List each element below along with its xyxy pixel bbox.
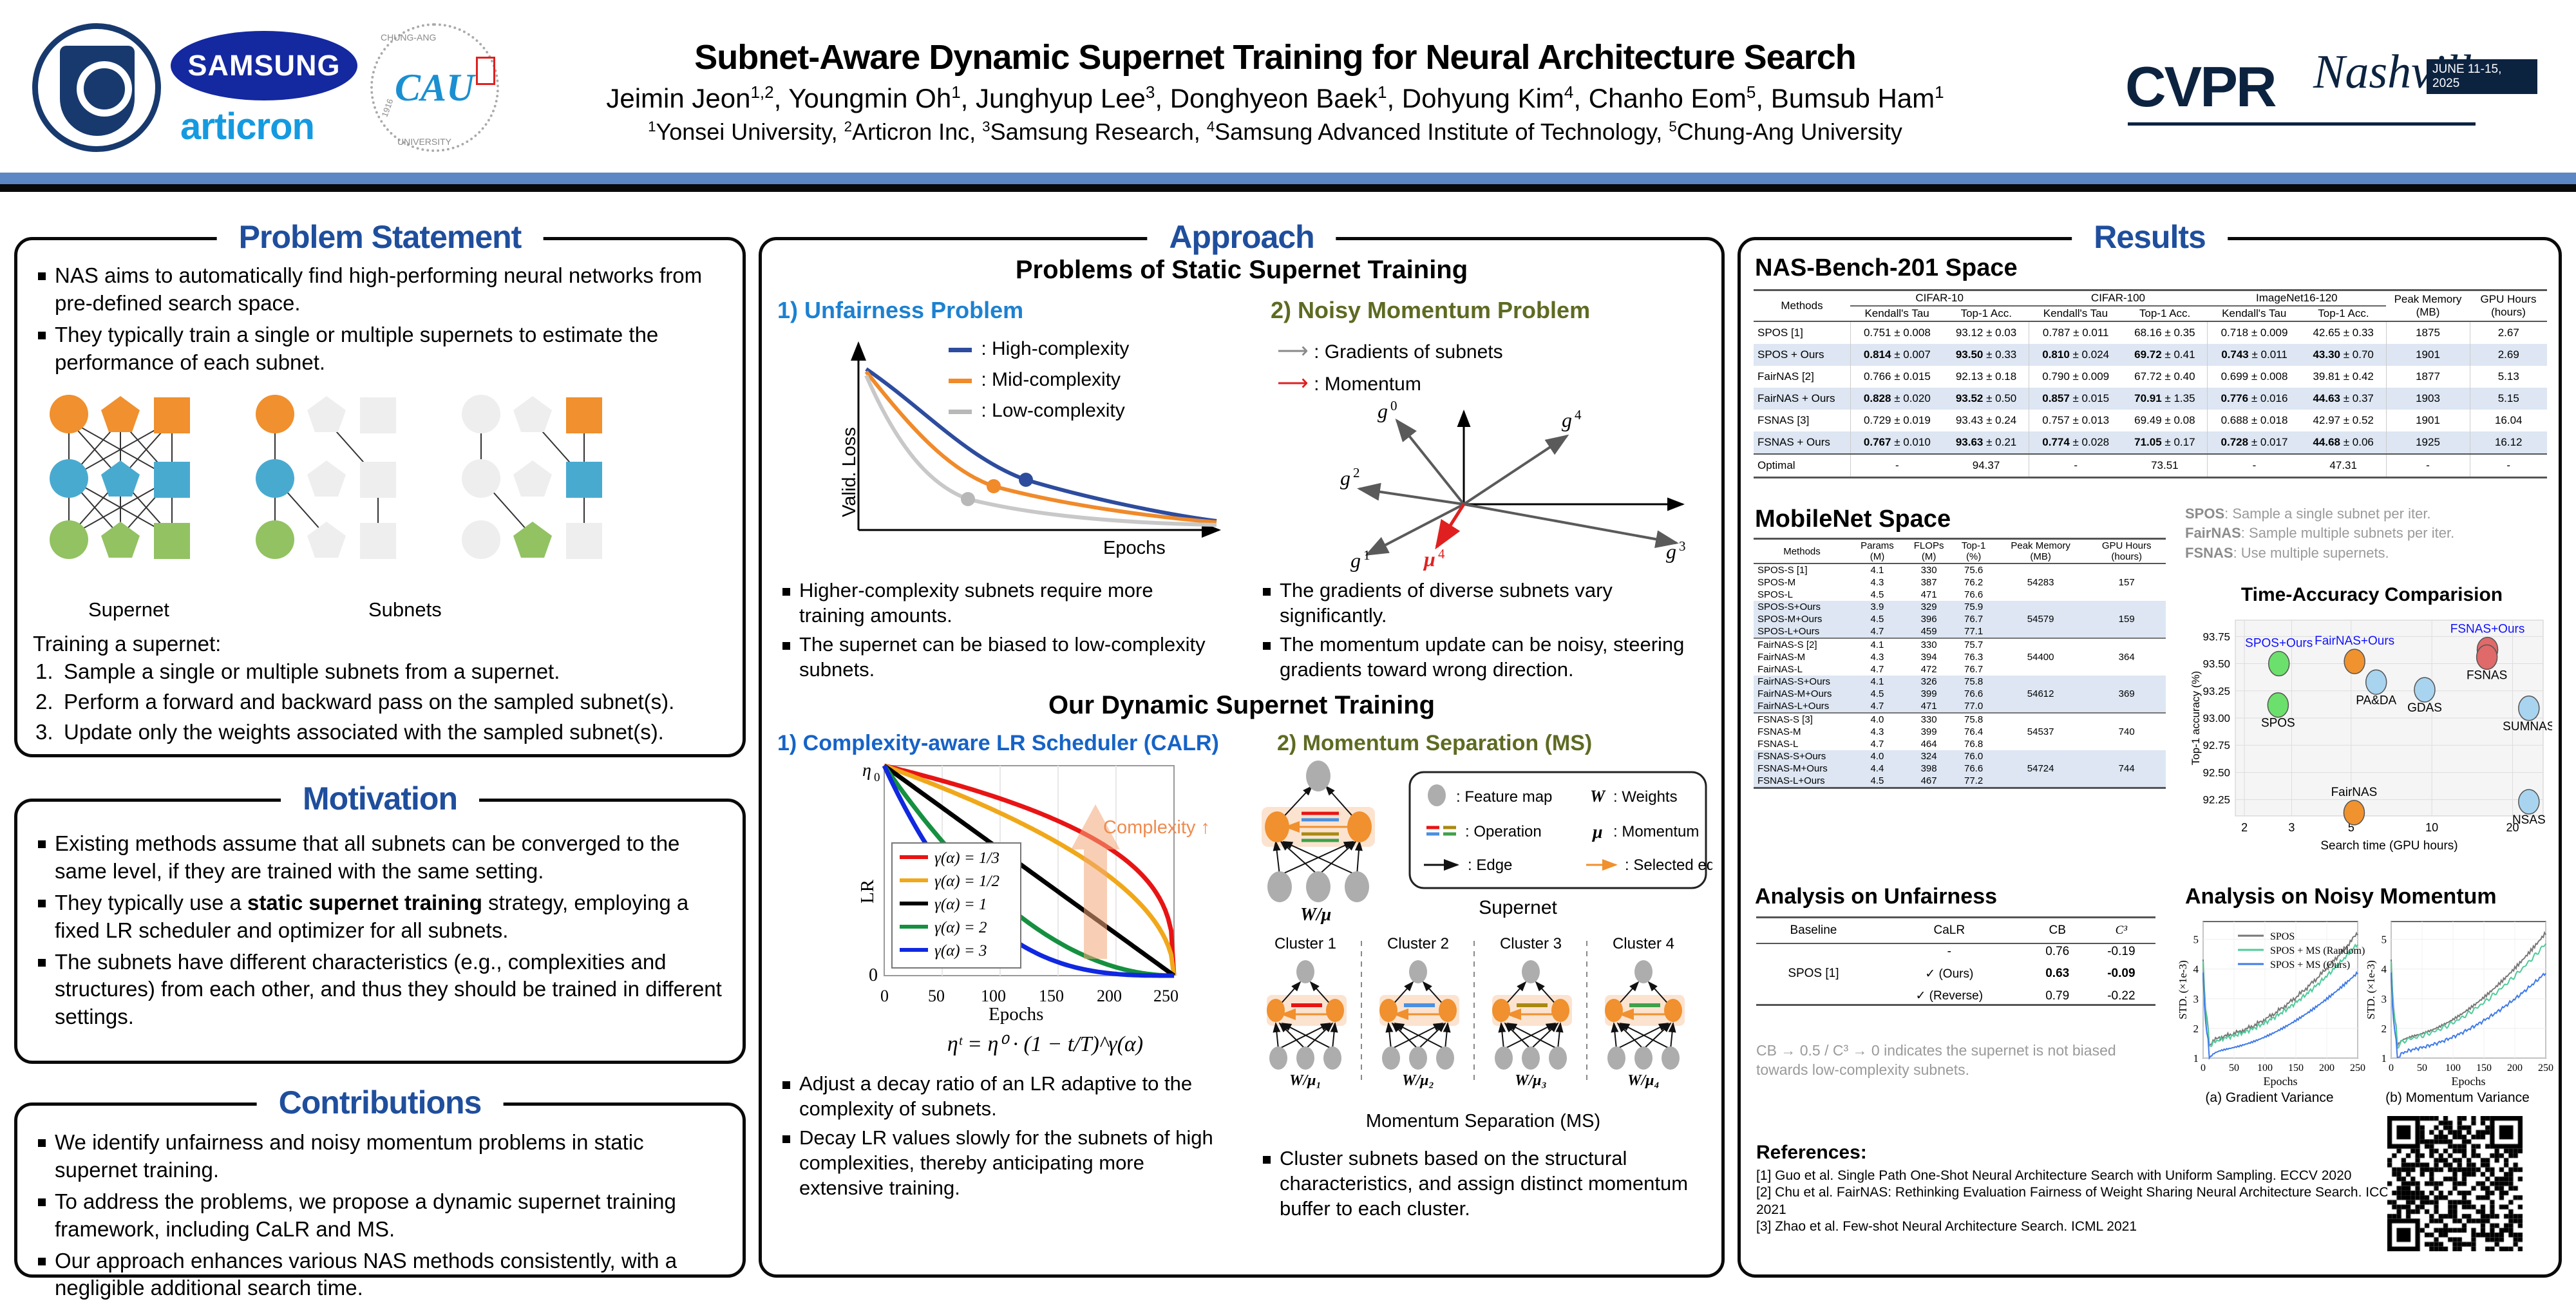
note-fairnas: FairNAS: Sample multiple subnets per ite… [2185, 524, 2559, 543]
note-desc: : Sample a single subnet per iter. [2224, 506, 2430, 522]
x-axis-label: Search time (GPU hours) [2320, 839, 2458, 853]
svg-text:W/μ₂: W/μ₂ [1402, 1072, 1434, 1089]
x-tick-label: 200 [2319, 1063, 2334, 1074]
cell-baseline [1756, 943, 1871, 960]
col-c3: C³ [2087, 918, 2155, 944]
cell-value: 42.97 ± 0.52 [2301, 410, 2386, 431]
col-cb: CB [2028, 918, 2087, 944]
cell-flops: 396 [1904, 613, 1953, 625]
table-row: FairNAS-S+Ours4.132675.8 [1754, 676, 2166, 688]
subcol-top1-in16: Top-1 Acc. [2301, 306, 2386, 321]
cell-params: 4.5 [1850, 589, 1904, 601]
cell-flops: 387 [1904, 576, 1953, 589]
y-tick-label: 2 [2193, 1023, 2199, 1035]
cau-logo: CHUNG-ANG 1916 CAU UNIVERSITY [370, 23, 499, 152]
table-row: FairNAS-L4.747276.7 [1754, 663, 2166, 676]
subcol-kendall-c10: Kendall's Tau [1850, 306, 1944, 321]
cell-method: Optimal [1754, 454, 1850, 478]
svg-text:: Feature map: : Feature map [1456, 788, 1552, 806]
motivation-bullet-list: Existing methods assume that all subnets… [34, 830, 723, 1035]
supernet-figure-label: Supernet [88, 598, 169, 621]
y-tick-label: 93.25 [2202, 685, 2230, 697]
subcol-kendall-in16: Kendall's Tau [2208, 306, 2301, 321]
scatter-point [2344, 649, 2365, 674]
calr-legend-label: γ(α) = 2 [934, 919, 987, 936]
cell-value: 93.63 ± 0.21 [1944, 431, 2029, 454]
col-cifar100: CIFAR-100 [2029, 290, 2207, 307]
cell-params: 4.3 [1850, 576, 1904, 589]
svg-text:g: g [1350, 549, 1361, 572]
unfairness-analysis-heading: Analysis on Unfairness [1755, 884, 1997, 909]
cell-value: 0.774 ± 0.028 [2029, 431, 2122, 454]
cell-value: 0.766 ± 0.015 [1850, 366, 1944, 388]
cell-calr: ✓ (Ours) [1871, 960, 2028, 988]
ms-cluster-4: Cluster 4W/μ₄ [1605, 935, 1685, 1089]
cell-params: 4.5 [1850, 688, 1904, 700]
y-tick-label: 93.75 [2202, 630, 2230, 643]
svg-text:W/μ₃: W/μ₃ [1515, 1072, 1547, 1089]
calr-legend-label: γ(α) = 1 [934, 896, 987, 913]
cell-flops: 399 [1904, 688, 1953, 700]
note-name: FSNAS [2185, 545, 2233, 561]
cell-value: 93.50 ± 0.33 [1944, 344, 2029, 366]
ms-cluster-3: Cluster 3W/μ₃ [1492, 935, 1572, 1089]
calr-bullets: Adjust a decay ratio of an LR adaptive t… [779, 1071, 1229, 1204]
cell-params: 4.5 [1850, 775, 1904, 788]
svg-text:g: g [1340, 466, 1350, 489]
cell-memory [1994, 738, 2087, 750]
cell-calr: ✓ (Reverse) [1871, 988, 2028, 1005]
cell-memory: 54537 [1994, 726, 2087, 738]
y-tick-label: 93.50 [2202, 658, 2230, 670]
list-item: 3. Update only the weights associated wi… [33, 719, 728, 746]
affiliation-list: 1Yonsei University, 2Articron Inc, 3Sams… [528, 118, 2022, 146]
cell-flops: 398 [1904, 762, 1953, 775]
svg-text:: Edge: : Edge [1468, 856, 1512, 874]
legend-label: SPOS [2270, 931, 2295, 942]
problem-bullet-list: NAS aims to automatically find high-perf… [34, 262, 723, 381]
cell-params: 4.7 [1850, 625, 1904, 638]
cell-top1: 76.0 [1953, 750, 1994, 762]
svg-text:0: 0 [880, 987, 889, 1005]
table-row: FSNAS-M4.339976.454537740 [1754, 726, 2166, 738]
cell-params: 4.4 [1850, 762, 1904, 775]
cell-top1: 76.7 [1953, 613, 1994, 625]
scatter-point-label: SUMNAS [2503, 720, 2552, 733]
cell-method: FSNAS-S [3] [1754, 713, 1850, 726]
table-row: SPOS [1]0.751 ± 0.00893.12 ± 0.030.787 ±… [1754, 321, 2547, 344]
list-item: The supernet can be biased to low-comple… [779, 632, 1223, 682]
svg-text:g: g [1666, 540, 1676, 563]
problem-statement-title: Problem Statement [217, 218, 544, 256]
cell-flops: 467 [1904, 775, 1953, 788]
svg-text:200: 200 [1097, 987, 1122, 1005]
cell-value: 39.81 ± 0.42 [2301, 366, 2386, 388]
svg-text:μ: μ [1423, 547, 1435, 571]
cau-wordmark: CAU [395, 66, 474, 110]
author-list: Jeimin Jeon1,2, Youngmin Oh1, Junghyup L… [528, 82, 2022, 114]
table-row: SPOS + Ours0.814 ± 0.00793.50 ± 0.330.81… [1754, 344, 2547, 366]
cell-gpu [2087, 775, 2166, 788]
cell-value: 0.699 ± 0.008 [2208, 366, 2301, 388]
cell-cb: 0.63 [2028, 960, 2087, 988]
note-desc: : Sample multiple subnets per iter. [2241, 525, 2454, 541]
cell-flops: 330 [1904, 713, 1953, 726]
unfairness-bullets: Higher-complexity subnets require more t… [779, 578, 1223, 686]
cell-value: 0.787 ± 0.011 [2029, 321, 2122, 344]
noisy-momentum-bullets: The gradients of diverse subnets vary si… [1259, 578, 1710, 686]
cell-value: 2.69 [2470, 344, 2547, 366]
table-row: Baseline CaLR CB C³ [1756, 918, 2155, 944]
table-row: FSNAS [3]0.729 ± 0.01993.43 ± 0.240.757 … [1754, 410, 2547, 431]
cell-top1: 76.7 [1953, 663, 1994, 676]
cell-value: 0.776 ± 0.016 [2208, 388, 2301, 410]
y-tick-label: 92.50 [2202, 766, 2230, 779]
col-peak-memory: Peak Memory (MB) [2386, 290, 2470, 322]
calr-legend-label: γ(α) = 3 [934, 942, 987, 960]
legend-momentum: ⟶ : Momentum [1277, 370, 1421, 396]
table-row: FSNAS-S+Ours4.032476.0 [1754, 750, 2166, 762]
calr-legend-label: γ(α) = 1/3 [934, 849, 999, 867]
cell-method: FSNAS-M+Ours [1754, 762, 1850, 775]
contributions-bullet-list: We identify unfairness and noisy momentu… [34, 1129, 723, 1306]
cell-value: 0.729 ± 0.019 [1850, 410, 1944, 431]
cell-top1: 76.6 [1953, 762, 1994, 775]
x-tick-label: 150 [2288, 1063, 2304, 1074]
step-text: Update only the weights associated with … [64, 720, 664, 744]
cell-value: 16.12 [2470, 431, 2547, 454]
cell-top1: 77.2 [1953, 775, 1994, 788]
cell-method: SPOS-M+Ours [1754, 613, 1850, 625]
x-tick-label: 200 [2507, 1063, 2523, 1074]
time-accuracy-title: Time-Accuracy Comparision [2185, 584, 2559, 606]
svg-text:μ: μ [1591, 822, 1603, 842]
scatter-point [2269, 652, 2289, 676]
scatter-point-label: SPOS [2261, 717, 2295, 730]
svg-text:Supernet: Supernet [1479, 897, 1557, 918]
cell-gpu [2087, 638, 2166, 651]
cell-params: 4.3 [1850, 651, 1904, 663]
training-steps-block: Training a supernet: 1. Sample a single … [33, 630, 728, 749]
cell-memory: 54283 [1994, 576, 2087, 589]
svg-text:: Momentum: : Momentum [1613, 823, 1699, 840]
cell-top1: 76.8 [1953, 738, 1994, 750]
col-top1: Top-1 (%) [1953, 539, 1994, 564]
col-gpu-hours: GPU Hours (hours) [2087, 539, 2166, 564]
note-name: FairNAS [2185, 525, 2241, 541]
cell-memory [1994, 563, 2087, 576]
y-tick-label: 4 [2193, 963, 2199, 976]
table-row: FSNAS + Ours0.767 ± 0.01093.63 ± 0.210.7… [1754, 431, 2547, 454]
note-name: SPOS [2185, 506, 2224, 522]
method-notes: SPOS: Sample a single subnet per iter. F… [2185, 504, 2559, 563]
cell-params: 4.7 [1850, 663, 1904, 676]
nasbench201-table: Methods CIFAR-10 CIFAR-100 ImageNet16-12… [1754, 289, 2547, 478]
scatter-point [2519, 790, 2539, 814]
table-row: -0.76-0.19 [1756, 943, 2155, 960]
list-item: The momentum update can be noisy, steeri… [1259, 632, 1710, 682]
list-item: The subnets have different characteristi… [34, 949, 723, 1032]
table-row: SPOS-S+Ours3.932975.9 [1754, 601, 2166, 613]
list-item: [2] Chu et al. FairNAS: Rethinking Evalu… [1756, 1184, 2400, 1218]
scatter-point [2477, 645, 2497, 669]
cell-memory [1994, 713, 2087, 726]
svg-text:Cluster 1: Cluster 1 [1274, 935, 1336, 952]
cvpr-underline [2128, 122, 2476, 126]
x-tick-label: 250 [2350, 1063, 2365, 1074]
svg-text:Cluster 4: Cluster 4 [1613, 935, 1674, 952]
cell-memory [1994, 601, 2087, 613]
y-tick-label: 5 [2193, 934, 2199, 946]
y-tick-label: 2 [2382, 1023, 2387, 1035]
cell-value: 0.757 ± 0.013 [2029, 410, 2122, 431]
unfairness-table: Baseline CaLR CB C³ -0.76-0.19SPOS [1]✓ … [1756, 916, 2155, 1006]
cell-memory [1994, 638, 2087, 651]
cell-top1: 75.8 [1953, 676, 1994, 688]
cell-gpu: 744 [2087, 762, 2166, 775]
table-row: FSNAS-L4.746476.8 [1754, 738, 2166, 750]
list-item: Higher-complexity subnets require more t… [779, 578, 1223, 628]
scatter-point [2268, 693, 2288, 717]
list-item: NAS aims to automatically find high-perf… [34, 262, 723, 317]
cell-flops: 330 [1904, 638, 1953, 651]
y-tick-label: 3 [2193, 993, 2199, 1005]
cell-value: 5.15 [2470, 388, 2547, 410]
qr-code[interactable] [2387, 1116, 2523, 1251]
cell-value: 67.72 ± 0.40 [2123, 366, 2208, 388]
cell-calr: - [1871, 943, 2028, 960]
cell-memory: 54724 [1994, 762, 2087, 775]
cell-value: 16.04 [2470, 410, 2547, 431]
note-desc: : Use multiple supernets. [2233, 545, 2389, 561]
cell-baseline [1756, 988, 1871, 1005]
table-body: SPOS [1]0.751 ± 0.00893.12 ± 0.030.787 ±… [1754, 321, 2547, 478]
header-blue-rule [0, 173, 2576, 184]
cvpr-logo: CVPR Nashville JUNE 11-15, 2025 [2125, 26, 2537, 142]
cell-value: 0.810 ± 0.024 [2029, 344, 2122, 366]
scatter-point-label: FSNAS+Ours [2450, 623, 2525, 636]
cell-flops: 471 [1904, 589, 1953, 601]
cell-value: 2.67 [2470, 321, 2547, 344]
legend-label: SPOS + MS (Ours) [2270, 960, 2350, 970]
cell-gpu [2087, 625, 2166, 638]
cell-value: 71.05 ± 0.17 [2123, 431, 2208, 454]
cell-value: 68.16 ± 0.35 [2123, 321, 2208, 344]
cell-flops: 326 [1904, 676, 1953, 688]
x-tick-label: 10 [2425, 821, 2438, 834]
cell-c3: -0.22 [2087, 988, 2155, 1005]
table-row: FairNAS-M4.339476.354400364 [1754, 651, 2166, 663]
references-block: References: [1] Guo et al. Single Path O… [1756, 1142, 2400, 1236]
cell-params: 4.7 [1850, 738, 1904, 750]
table-row: FairNAS [2]0.766 ± 0.01592.13 ± 0.180.79… [1754, 366, 2547, 388]
scatter-point-label: SPOS+Ours [2245, 637, 2313, 650]
cell-value: - [2208, 454, 2301, 478]
mobilenet-table: Methods Params (M) FLOPs (M) Top-1 (%) P… [1754, 538, 2166, 789]
scatter-point-label: NSAS [2512, 813, 2546, 827]
cell-value: 94.37 [1944, 454, 2029, 478]
cvpr-wordmark: CVPR [2125, 54, 2275, 120]
svg-text:W: W [1590, 787, 1606, 806]
x-tick-label: 250 [2538, 1063, 2553, 1074]
cau-red-box-marker [476, 57, 495, 85]
table-row: ✓ (Reverse)0.79-0.22 [1756, 988, 2155, 1005]
cell-top1: 76.6 [1953, 688, 1994, 700]
list-item: Adjust a decay ratio of an LR adaptive t… [779, 1071, 1229, 1121]
noisy-momentum-charts: 54321050100150200250STD. (×1e-3)Epochs54… [2173, 913, 2553, 1106]
col-methods: Methods [1754, 290, 1850, 322]
cell-memory [1994, 676, 2087, 688]
table-row: SPOS [1]✓ (Ours)0.63-0.09 [1756, 960, 2155, 988]
col-calr: CaLR [1871, 918, 2028, 944]
cell-value: 92.13 ± 0.18 [1944, 366, 2029, 388]
step-number: 3. [35, 719, 53, 746]
cell-method: FairNAS-M [1754, 651, 1850, 663]
calr-formula: ηᵗ = η⁰ · (1 − t/T)^γ(α) [865, 1031, 1226, 1057]
results-title: Results [2072, 218, 2228, 256]
poster-header: SAMSUNG articron CHUNG-ANG 1916 CAU UNIV… [0, 0, 2576, 173]
svg-text:0: 0 [1390, 401, 1397, 413]
svg-text:0: 0 [869, 965, 878, 985]
cell-value: 0.828 ± 0.020 [1850, 388, 1944, 410]
cell-value: 1901 [2386, 344, 2470, 366]
scatter-point-label: FairNAS+Ours [2315, 634, 2394, 648]
svg-text:: Operation: : Operation [1465, 823, 1542, 840]
table-row: Methods Params (M) FLOPs (M) Top-1 (%) P… [1754, 539, 2166, 564]
cell-gpu [2087, 563, 2166, 576]
legend-gradients: ⟶ : Gradients of subnets [1277, 338, 1503, 364]
yonsei-logo [32, 23, 161, 152]
step-text: Sample a single or multiple subnets from… [64, 659, 560, 683]
col-peak-memory: Peak Memory (MB) [1994, 539, 2087, 564]
subnets-figure-label: Subnets [368, 598, 442, 621]
cell-method: SPOS-L+Ours [1754, 625, 1850, 638]
list-item: 2. Perform a forward and backward pass o… [33, 688, 728, 716]
cell-params: 4.5 [1850, 613, 1904, 625]
supernet-subnets-diagram [30, 395, 732, 588]
table-row: FairNAS-L+Ours4.747177.0 [1754, 700, 2166, 713]
cell-top1: 77.1 [1953, 625, 1994, 638]
scatter-point [2519, 696, 2539, 721]
panel-approach: Approach Problems of Static Supernet Tra… [759, 237, 1725, 1278]
valid-loss-ylabel: Valid. Loss [839, 427, 860, 517]
cau-ring-top-text: CHUNG-ANG [381, 32, 436, 43]
cell-value: 0.790 ± 0.009 [2029, 366, 2122, 388]
table-header: Methods CIFAR-10 CIFAR-100 ImageNet16-12… [1754, 290, 2547, 322]
svg-text:4: 4 [1438, 546, 1445, 562]
calr-lr-chart: η 0 0 0 50 100 150 200 250 γ(α) = 1/3γ(α… [852, 759, 1187, 1017]
svg-text:: Weights: : Weights [1613, 788, 1678, 806]
x-tick-label: 3 [2288, 821, 2295, 834]
col-imagenet16: ImageNet16-120 [2208, 290, 2386, 307]
cell-method: FSNAS-S+Ours [1754, 750, 1850, 762]
cell-value: - [2386, 454, 2470, 478]
svg-text:g: g [1378, 401, 1388, 422]
x-tick-label: 0 [2201, 1063, 2206, 1074]
cell-gpu [2087, 750, 2166, 762]
calr-heading: 1) Complexity-aware LR Scheduler (CALR) [777, 731, 1219, 756]
cell-method: FSNAS + Ours [1754, 431, 1850, 454]
cell-value: 5.13 [2470, 366, 2547, 388]
cell-gpu [2087, 589, 2166, 601]
cell-gpu [2087, 713, 2166, 726]
cell-memory [1994, 625, 2087, 638]
cell-params: 4.1 [1850, 676, 1904, 688]
list-item: Our approach enhances various NAS method… [34, 1247, 723, 1303]
cell-memory: 54612 [1994, 688, 2087, 700]
cell-baseline: SPOS [1] [1756, 960, 1871, 988]
cell-method: FairNAS-M+Ours [1754, 688, 1850, 700]
ms-heading: 2) Momentum Separation (MS) [1277, 731, 1592, 756]
cell-flops: 399 [1904, 726, 1953, 738]
mobilenet-heading: MobileNet Space [1755, 506, 1951, 533]
cell-gpu [2087, 676, 2166, 688]
cell-value: 42.65 ± 0.33 [2301, 321, 2386, 344]
table-row: FairNAS + Ours0.828 ± 0.02093.52 ± 0.500… [1754, 388, 2547, 410]
cell-memory [1994, 700, 2087, 713]
cell-value: 0.857 ± 0.015 [2029, 388, 2122, 410]
svg-text:150: 150 [1039, 987, 1064, 1005]
scatter-point [2344, 800, 2364, 825]
cell-top1: 75.6 [1953, 563, 1994, 576]
momentum-variance-caption: (b) Momentum Variance [2364, 1090, 2551, 1106]
cell-value: 0.728 ± 0.017 [2208, 431, 2301, 454]
cell-value: 70.91 ± 1.35 [2123, 388, 2208, 410]
table-header: Methods Params (M) FLOPs (M) Top-1 (%) P… [1754, 539, 2166, 564]
cell-gpu: 159 [2087, 613, 2166, 625]
cell-value: 1877 [2386, 366, 2470, 388]
cell-method: FairNAS-S [2] [1754, 638, 1850, 651]
cell-top1: 76.2 [1953, 576, 1994, 589]
cell-top1: 75.7 [1953, 638, 1994, 651]
table-row: SPOS-M+Ours4.539676.754579159 [1754, 613, 2166, 625]
cell-value: 0.688 ± 0.018 [2208, 410, 2301, 431]
cell-value: 1925 [2386, 431, 2470, 454]
cell-method: FairNAS [2] [1754, 366, 1850, 388]
valid-loss-xlabel: Epochs [1103, 538, 1166, 559]
list-item: [3] Zhao et al. Few-shot Neural Architec… [1756, 1218, 2400, 1235]
unfairness-heading: 1) Unfairness Problem [777, 297, 1023, 324]
list-item: Decay LR values slowly for the subnets o… [779, 1125, 1229, 1200]
cell-method: SPOS [1] [1754, 321, 1850, 344]
cell-value: 0.751 ± 0.008 [1850, 321, 1944, 344]
references-heading: References: [1756, 1142, 2400, 1164]
x-tick-label: 50 [2417, 1063, 2427, 1074]
cell-value: - [2029, 454, 2122, 478]
list-item: The gradients of diverse subnets vary si… [1259, 578, 1710, 628]
svg-text:100: 100 [981, 987, 1006, 1005]
cell-memory [1994, 750, 2087, 762]
unfairness-note: CB → 0.5 / C³ → 0 indicates the supernet… [1756, 1041, 2155, 1080]
svg-text:50: 50 [928, 987, 945, 1005]
x-tick-label: 150 [2476, 1063, 2492, 1074]
table-body: -0.76-0.19SPOS [1]✓ (Ours)0.63-0.09✓ (Re… [1756, 943, 2155, 1005]
cell-flops: 394 [1904, 651, 1953, 663]
cell-gpu [2087, 700, 2166, 713]
cell-gpu: 369 [2087, 688, 2166, 700]
scatter-point-label: FairNAS [2331, 786, 2378, 799]
calr-complexity-annotation: Complexity ↑ [1103, 817, 1210, 838]
step-text: Perform a forward and backward pass on t… [64, 690, 674, 714]
cell-value: 44.63 ± 0.37 [2301, 388, 2386, 410]
list-item: We identify unfairness and noisy momentu… [34, 1129, 723, 1184]
cell-params: 4.1 [1850, 563, 1904, 576]
cell-value: 1875 [2386, 321, 2470, 344]
cell-memory [1994, 663, 2087, 676]
cell-method: SPOS + Ours [1754, 344, 1850, 366]
cau-ring-bottom-text: UNIVERSITY [397, 137, 451, 147]
cell-cb: 0.79 [2028, 988, 2087, 1005]
